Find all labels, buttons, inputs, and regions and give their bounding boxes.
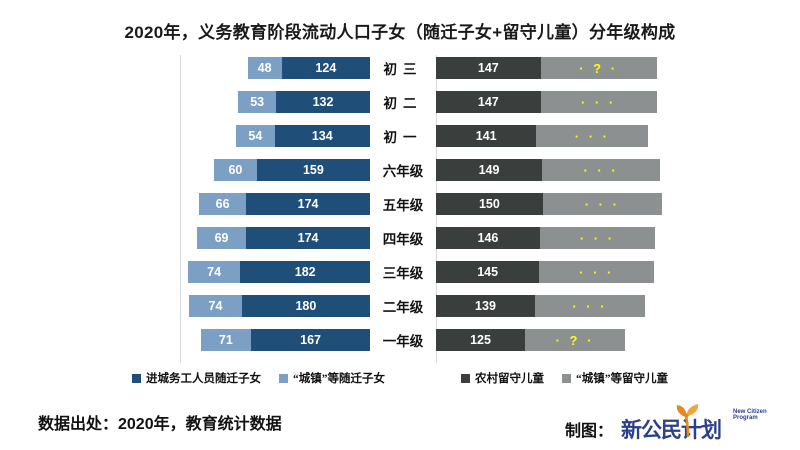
bar-segment-urban-migrant[interactable]: 60 xyxy=(214,159,257,181)
category-label: 初一 xyxy=(384,126,423,146)
category-label-cell: 六年级 xyxy=(370,159,436,181)
bar-segment-rural-leftbehind[interactable]: 141 xyxy=(436,125,536,147)
publisher-logo: 新公民计划 New Citizen Program xyxy=(621,412,721,446)
legend-swatch-icon xyxy=(279,374,288,383)
bar-group-left: 69174 xyxy=(180,227,370,249)
legend-swatch-icon xyxy=(461,374,470,383)
category-label-cell: 初三 xyxy=(370,57,436,79)
bar-group-left: 66174 xyxy=(180,193,370,215)
legend-label: 进城务工人员随迁子女 xyxy=(146,370,261,386)
bar-segment-urban-migrant[interactable]: 74 xyxy=(189,295,242,317)
bar-segment-urban-migrant[interactable]: 66 xyxy=(199,193,246,215)
legend-label: “城镇”等随迁子女 xyxy=(293,370,385,386)
legend-label: 农村留守儿童 xyxy=(475,370,544,386)
chart-row: 48124初三147· ? · xyxy=(0,55,800,81)
legend-item-2[interactable]: 农村留守儿童 xyxy=(461,370,544,386)
bar-group-right: 141· · · xyxy=(436,125,726,147)
bar-group-right: 147· ? · xyxy=(436,57,726,79)
category-label-cell: 初二 xyxy=(370,91,436,113)
chart-row: 71167一年级125· ? · xyxy=(0,327,800,353)
bar-segment-urban-leftbehind[interactable]: · · · xyxy=(535,295,645,317)
bar-segment-urban-leftbehind[interactable]: · · · xyxy=(536,125,648,147)
bar-group-right: 145· · · xyxy=(436,261,726,283)
legend-group-left: 进城务工人员随迁子女 “城镇”等随迁子女 xyxy=(123,370,394,386)
bar-segment-worker-migrant[interactable]: 174 xyxy=(246,193,370,215)
bar-segment-rural-leftbehind[interactable]: 147 xyxy=(436,91,541,113)
data-source-text: 数据出处：2020年，教育统计数据 xyxy=(38,410,282,434)
category-label-cell: 初一 xyxy=(370,125,436,147)
chart-row: 74180二年级139· · · xyxy=(0,293,800,319)
bar-segment-rural-leftbehind[interactable]: 145 xyxy=(436,261,539,283)
bar-segment-urban-migrant[interactable]: 54 xyxy=(236,125,274,147)
bar-segment-rural-leftbehind[interactable]: 125 xyxy=(436,329,525,351)
legend-group-right: 农村留守儿童 “城镇”等留守儿童 xyxy=(452,370,677,386)
legend-swatch-icon xyxy=(132,374,141,383)
chart-row: 53132初二147· · · xyxy=(0,89,800,115)
chart-row: 54134初一141· · · xyxy=(0,123,800,149)
category-label: 五年级 xyxy=(383,194,424,214)
bar-group-right: 147· · · xyxy=(436,91,726,113)
bar-segment-urban-leftbehind[interactable]: · ? · xyxy=(541,57,657,79)
bar-group-right: 125· ? · xyxy=(436,329,726,351)
category-label-cell: 五年级 xyxy=(370,193,436,215)
bar-segment-rural-leftbehind[interactable]: 150 xyxy=(436,193,543,215)
bar-group-left: 74182 xyxy=(180,261,370,283)
category-label-cell: 二年级 xyxy=(370,295,436,317)
chart-row: 74182三年级145· · · xyxy=(0,259,800,285)
bar-segment-rural-leftbehind[interactable]: 147 xyxy=(436,57,541,79)
legend-item-0[interactable]: 进城务工人员随迁子女 xyxy=(132,370,261,386)
bar-segment-urban-migrant[interactable]: 74 xyxy=(188,261,241,283)
chart-legend: 进城务工人员随迁子女 “城镇”等随迁子女 农村留守儿童 “城镇”等留守儿童 xyxy=(0,368,800,388)
bar-segment-rural-leftbehind[interactable]: 139 xyxy=(436,295,535,317)
logo-en-line1: New Citizen xyxy=(733,409,767,415)
legend-label: “城镇”等留守儿童 xyxy=(576,370,668,386)
bar-segment-worker-migrant[interactable]: 134 xyxy=(275,125,370,147)
bar-segment-rural-leftbehind[interactable]: 149 xyxy=(436,159,542,181)
category-label: 二年级 xyxy=(383,296,424,316)
bar-segment-urban-leftbehind[interactable]: · ? · xyxy=(525,329,625,351)
chart-plot-area: 48124初三147· ? ·53132初二147· · ·54134初一141… xyxy=(0,55,800,363)
chart-row: 66174五年级150· · · xyxy=(0,191,800,217)
bar-segment-urban-leftbehind[interactable]: · · · xyxy=(541,91,657,113)
category-label: 初三 xyxy=(384,58,423,78)
category-label-cell: 一年级 xyxy=(370,329,436,351)
bar-group-left: 53132 xyxy=(180,91,370,113)
bar-group-left: 71167 xyxy=(180,329,370,351)
logo-en-line2: Program xyxy=(733,415,758,421)
legend-swatch-icon xyxy=(562,374,571,383)
bar-segment-rural-leftbehind[interactable]: 146 xyxy=(436,227,540,249)
logo-english-text: New Citizen Program xyxy=(733,409,767,422)
sprout-icon xyxy=(673,403,703,442)
logo-chinese-text: 新公民计划 xyxy=(621,414,721,444)
bar-group-left: 48124 xyxy=(180,57,370,79)
bar-segment-worker-migrant[interactable]: 124 xyxy=(282,57,370,79)
legend-item-3[interactable]: “城镇”等留守儿童 xyxy=(562,370,668,386)
category-label: 四年级 xyxy=(383,228,424,248)
category-label-cell: 三年级 xyxy=(370,261,436,283)
bar-group-right: 139· · · xyxy=(436,295,726,317)
bar-group-right: 146· · · xyxy=(436,227,726,249)
credit-block: 制图： 新公民计划 New Citizen Program xyxy=(565,412,721,446)
bar-segment-worker-migrant[interactable]: 159 xyxy=(257,159,370,181)
legend-item-1[interactable]: “城镇”等随迁子女 xyxy=(279,370,385,386)
category-label: 一年级 xyxy=(383,330,424,350)
bar-group-right: 149· · · xyxy=(436,159,726,181)
category-label: 六年级 xyxy=(383,160,424,180)
bar-group-left: 74180 xyxy=(180,295,370,317)
bar-segment-urban-leftbehind[interactable]: · · · xyxy=(542,159,660,181)
category-label: 三年级 xyxy=(383,262,424,282)
bar-segment-urban-leftbehind[interactable]: · · · xyxy=(543,193,662,215)
chart-row: 69174四年级146· · · xyxy=(0,225,800,251)
credit-label: 制图： xyxy=(565,417,613,441)
bar-segment-worker-migrant[interactable]: 167 xyxy=(251,329,370,351)
page-title: 2020年，义务教育阶段流动人口子女（随迁子女+留守儿童）分年级构成 xyxy=(0,18,800,43)
category-label: 初二 xyxy=(384,92,423,112)
bar-segment-urban-migrant[interactable]: 48 xyxy=(248,57,282,79)
chart-row: 60159六年级149· · · xyxy=(0,157,800,183)
bar-segment-worker-migrant[interactable]: 182 xyxy=(240,261,370,283)
bar-segment-worker-migrant[interactable]: 174 xyxy=(246,227,370,249)
bar-group-left: 60159 xyxy=(180,159,370,181)
bar-segment-urban-migrant[interactable]: 71 xyxy=(201,329,252,351)
category-label-cell: 四年级 xyxy=(370,227,436,249)
bar-segment-urban-leftbehind[interactable]: · · · xyxy=(539,261,654,283)
bar-segment-worker-migrant[interactable]: 132 xyxy=(276,91,370,113)
bar-segment-urban-migrant[interactable]: 53 xyxy=(238,91,276,113)
bar-segment-urban-leftbehind[interactable]: · · · xyxy=(540,227,655,249)
bar-group-left: 54134 xyxy=(180,125,370,147)
bar-group-right: 150· · · xyxy=(436,193,726,215)
bar-segment-urban-migrant[interactable]: 69 xyxy=(197,227,246,249)
bar-segment-worker-migrant[interactable]: 180 xyxy=(242,295,370,317)
